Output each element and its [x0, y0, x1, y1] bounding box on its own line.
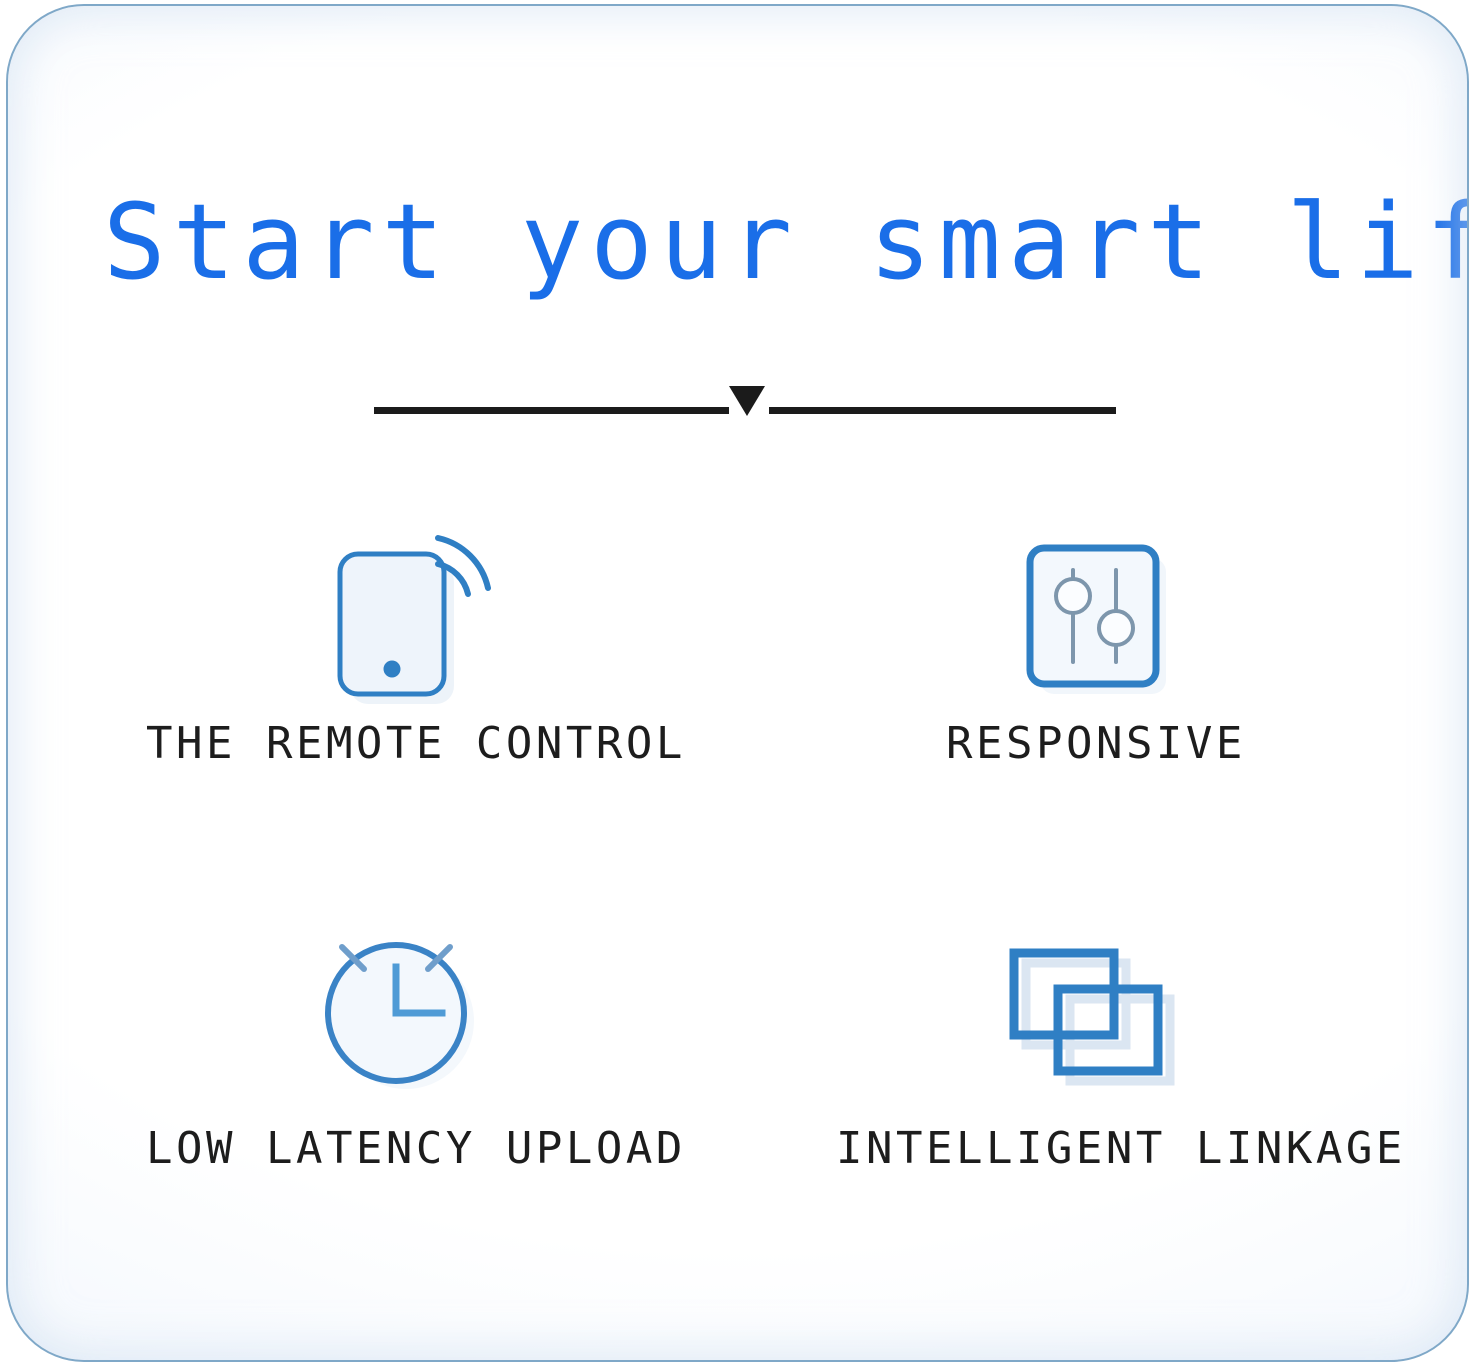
- feature-label: THE REMOTE CONTROL: [146, 718, 686, 769]
- feature-card: Start your smart life THE REMOTE CONTROL: [6, 4, 1469, 1362]
- interlocking-squares-icon: [996, 939, 1186, 1099]
- feature-item-intelligent-linkage[interactable]: INTELLIGENT LINKAGE: [778, 911, 1378, 1271]
- remote-phone-signal-icon: [316, 528, 491, 708]
- feature-icon-wrap: [778, 506, 1378, 706]
- divider-line-left: [374, 407, 729, 414]
- divider-line-right: [769, 407, 1116, 414]
- feature-item-low-latency-upload[interactable]: LOW LATENCY UPLOAD: [88, 911, 688, 1271]
- feature-item-responsive[interactable]: RESPONSIVE: [778, 506, 1378, 866]
- alarm-clock-icon: [310, 921, 490, 1101]
- feature-icon-wrap: [88, 911, 688, 1111]
- section-divider: [374, 384, 1116, 428]
- feature-icon-wrap: [778, 911, 1378, 1111]
- sliders-panel-icon: [1016, 536, 1176, 701]
- feature-label: INTELLIGENT LINKAGE: [836, 1123, 1406, 1174]
- feature-icon-wrap: [88, 506, 688, 706]
- feature-grid: THE REMOTE CONTROL RESPONSIVE: [8, 506, 1469, 1266]
- page-title: Start your smart life: [103, 186, 1393, 298]
- feature-item-remote-control[interactable]: THE REMOTE CONTROL: [88, 506, 688, 866]
- feature-label: LOW LATENCY UPLOAD: [146, 1123, 686, 1174]
- down-triangle-icon: [729, 386, 765, 416]
- feature-label: RESPONSIVE: [946, 718, 1246, 769]
